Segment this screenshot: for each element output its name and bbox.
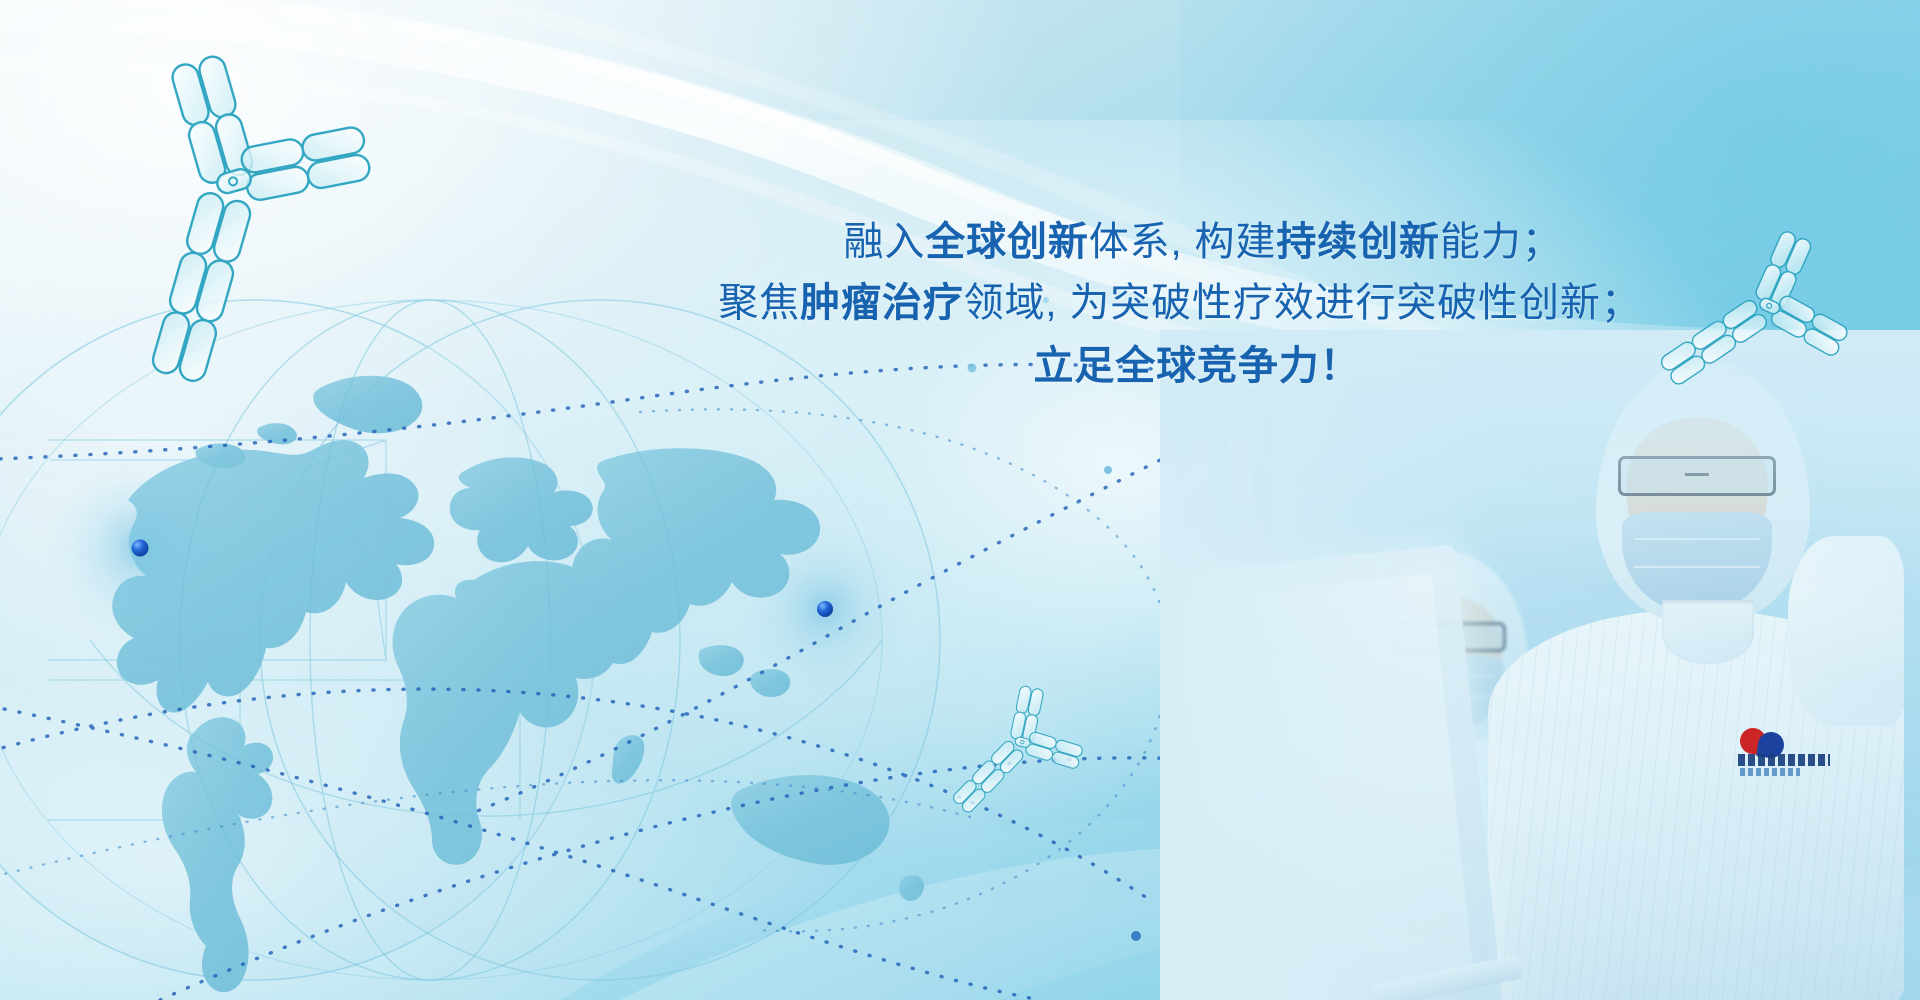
- dotted-orbit-network: [0, 364, 1240, 1000]
- antibody-center-bottom-icon: [949, 676, 1094, 835]
- headline-line-1-seg-4: 持续创新: [1276, 220, 1440, 264]
- headline-line-3: 立足全球竞争力！: [640, 336, 1720, 397]
- headline-line-3-seg-1: 立足全球竞争力！: [1033, 344, 1360, 388]
- wireframe-panels: [48, 440, 520, 820]
- meridian-arcs: [90, 300, 882, 980]
- antibody-top-left-icon: [72, 22, 418, 396]
- headline-line-1-seg-2: 全球创新: [925, 220, 1089, 264]
- headline-line-1: 融入全球创新体系, 构建持续创新能力；: [640, 212, 1720, 273]
- headline-line-1-seg-3: 体系, 构建: [1089, 220, 1277, 264]
- headline-block: 融入全球创新体系, 构建持续创新能力； 聚焦肿瘤治疗领域, 为突破性疗效进行突破…: [640, 212, 1720, 396]
- pulse-marker-north-america: [44, 452, 236, 644]
- globe-graphic: [0, 300, 940, 992]
- headline-line-1-seg-5: 能力；: [1440, 220, 1563, 264]
- headline-line-1-seg-1: 融入: [844, 220, 926, 264]
- cleanroom-scientists-photo: [1160, 330, 1920, 1000]
- wash-bottom-left: [0, 420, 1140, 1000]
- headline-line-2-seg-3: 领域, 为突破性疗效进行突破性创新；: [964, 281, 1642, 325]
- banner-canvas: 融入全球创新体系, 构建持续创新能力； 聚焦肿瘤治疗领域, 为突破性疗效进行突破…: [0, 0, 1920, 1000]
- headline-line-2: 聚焦肿瘤治疗领域, 为突破性疗效进行突破性创新；: [640, 273, 1720, 334]
- headline-line-2-seg-2: 肿瘤治疗: [800, 281, 964, 325]
- headline-line-2-seg-1: 聚焦: [718, 281, 800, 325]
- dotted-orbit-thin: [0, 409, 1169, 931]
- continents: [112, 376, 924, 992]
- pulse-marker-asia: [735, 519, 915, 699]
